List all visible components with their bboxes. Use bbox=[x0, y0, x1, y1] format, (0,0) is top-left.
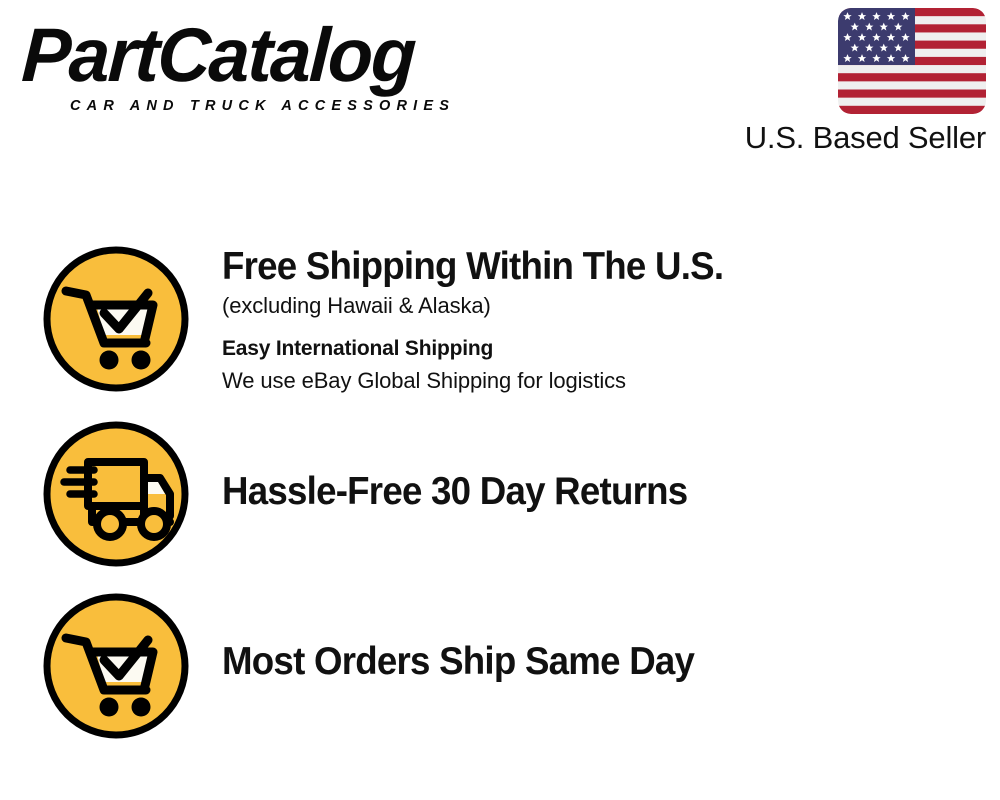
us-based-seller-badge: U.S. Based Seller bbox=[686, 8, 986, 155]
feature-secondary-title: Easy International Shipping bbox=[222, 333, 970, 365]
feature-text-block: Most Orders Ship Same Day bbox=[222, 590, 970, 685]
feature-title: Most Orders Ship Same Day bbox=[222, 638, 925, 685]
feature-row-same-day-shipping: Most Orders Ship Same Day bbox=[40, 590, 970, 742]
brand-wordmark: PartCatalog bbox=[20, 16, 416, 96]
feature-title: Hassle-Free 30 Day Returns bbox=[222, 468, 925, 515]
brand-logo: PartCatalog CAR AND TRUCK ACCESSORIES bbox=[24, 22, 494, 117]
feature-text-block: Hassle-Free 30 Day Returns bbox=[222, 418, 970, 515]
delivery-truck-icon bbox=[40, 418, 192, 570]
shopping-cart-check-icon bbox=[40, 590, 192, 742]
us-flag-icon bbox=[838, 8, 986, 114]
feature-secondary-subtitle: We use eBay Global Shipping for logistic… bbox=[222, 365, 970, 397]
shopping-cart-check-icon bbox=[40, 243, 192, 395]
feature-row-returns: Hassle-Free 30 Day Returns bbox=[40, 418, 970, 570]
feature-subtitle: (excluding Hawaii & Alaska) bbox=[222, 290, 970, 322]
brand-tagline: CAR AND TRUCK ACCESSORIES bbox=[70, 98, 455, 114]
us-based-seller-label: U.S. Based Seller bbox=[686, 121, 986, 155]
feature-text-block: Free Shipping Within The U.S. (excluding… bbox=[222, 243, 970, 397]
feature-title: Free Shipping Within The U.S. bbox=[222, 243, 925, 290]
feature-row-free-shipping: Free Shipping Within The U.S. (excluding… bbox=[40, 243, 970, 397]
seller-info-banner: PartCatalog CAR AND TRUCK ACCESSORIES bbox=[0, 0, 1000, 800]
